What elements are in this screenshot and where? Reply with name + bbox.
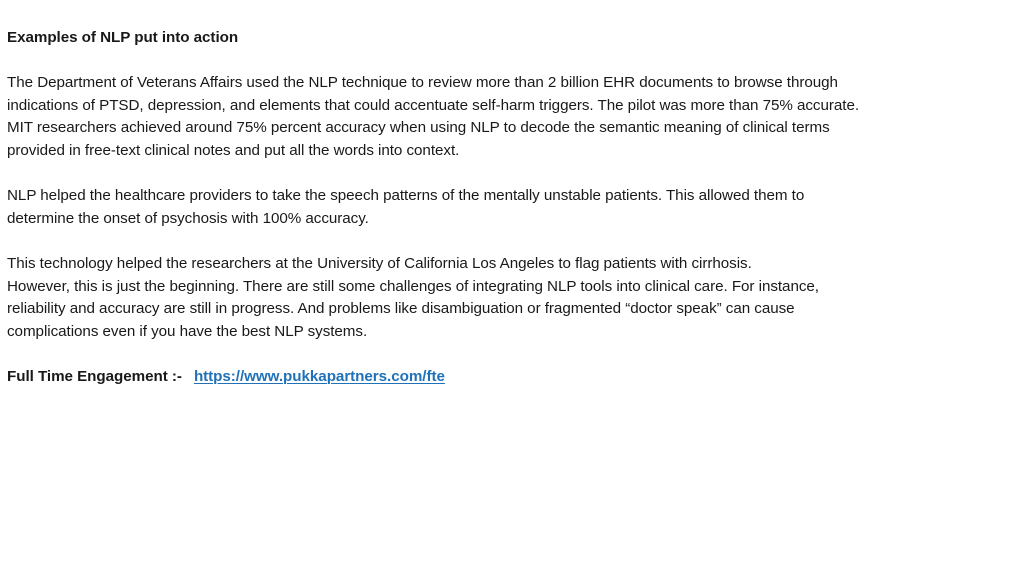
- spacer-after-title: [7, 50, 1012, 73]
- paragraph-line: provided in free-text clinical notes and…: [7, 140, 1012, 163]
- full-time-engagement-line: Full Time Engagement :-https://www.pukka…: [7, 366, 1012, 389]
- paragraph-line: MIT researchers achieved around 75% perc…: [7, 117, 1012, 140]
- spacer-paragraph-2: [7, 230, 1012, 253]
- paragraph-line: NLP helped the healthcare providers to t…: [7, 185, 1012, 208]
- slide-text-body: Examples of NLP put into action The Depa…: [7, 27, 1012, 389]
- page-title: Examples of NLP put into action: [7, 27, 1012, 50]
- paragraph-line: complications even if you have the best …: [7, 321, 1012, 344]
- paragraph-va-mit: The Department of Veterans Affairs used …: [7, 72, 1012, 162]
- spacer-paragraph-1: [7, 163, 1012, 186]
- paragraph-line: The Department of Veterans Affairs used …: [7, 72, 1012, 95]
- slide-canvas: Examples of NLP put into action The Depa…: [0, 0, 1024, 576]
- spacer-paragraph-3: [7, 343, 1012, 366]
- paragraph-line: determine the onset of psychosis with 10…: [7, 208, 1012, 231]
- pukkapartners-fte-link[interactable]: https://www.pukkapartners.com/fte: [194, 368, 445, 385]
- paragraph-line: reliability and accuracy are still in pr…: [7, 298, 1012, 321]
- paragraph-speech-patterns: NLP helped the healthcare providers to t…: [7, 185, 1012, 230]
- full-time-engagement-label: Full Time Engagement :-: [7, 368, 182, 385]
- paragraph-line: However, this is just the beginning. The…: [7, 276, 1012, 299]
- paragraph-ucla-challenges: This technology helped the researchers a…: [7, 253, 1012, 343]
- paragraph-line: This technology helped the researchers a…: [7, 253, 1012, 276]
- paragraph-line: indications of PTSD, depression, and ele…: [7, 95, 1012, 118]
